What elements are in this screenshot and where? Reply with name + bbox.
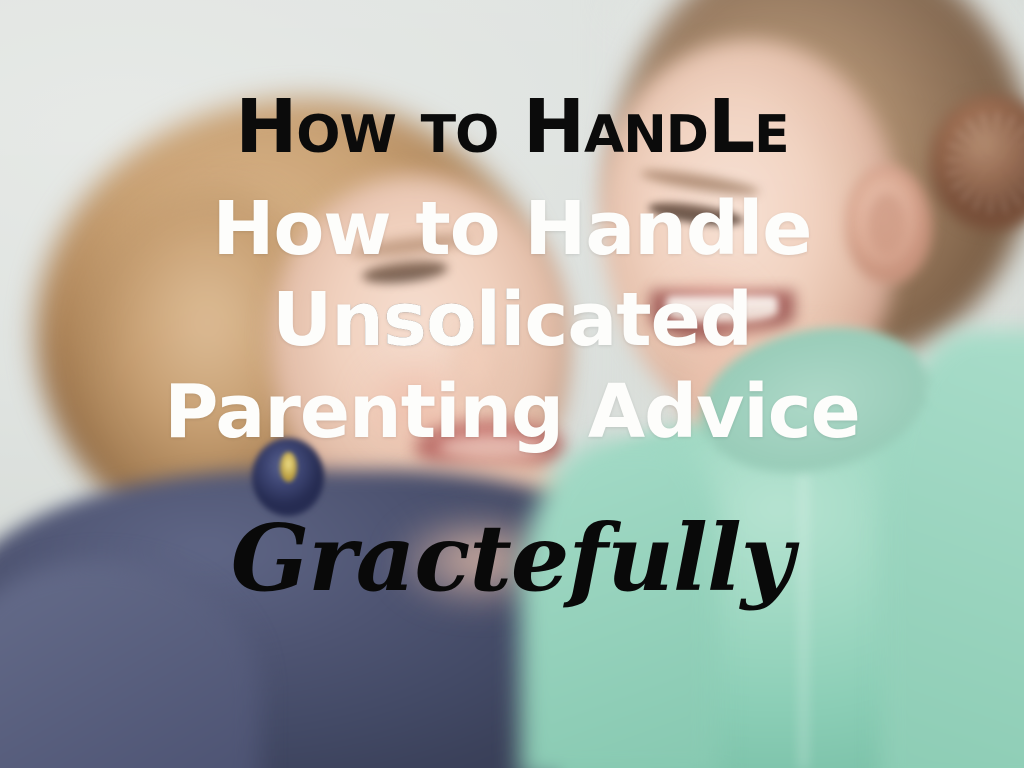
title-line-2-white: How to Handle xyxy=(0,192,1024,266)
title-overlay: How to HandLe How to Handle Unsolicated … xyxy=(0,0,1024,768)
title-line-3-white: Unsolicated xyxy=(0,283,1024,357)
title-line-4-white: Parenting Advice xyxy=(0,375,1024,449)
title-line-5-script: Gractefully xyxy=(0,512,1024,604)
title-line-1-black: How to HandLe xyxy=(0,90,1024,164)
title-card-canvas: How to HandLe How to Handle Unsolicated … xyxy=(0,0,1024,768)
